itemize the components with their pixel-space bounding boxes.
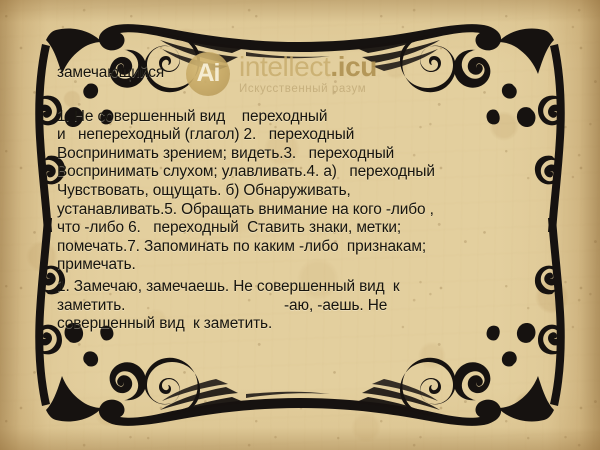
article-headword: замечающийся — [57, 64, 537, 83]
article-sense-list: 1. Не совершенный вид переходный и непер… — [57, 83, 537, 275]
scanned-dictionary-page: Ai intellect.icu Искусственный разум зам… — [0, 0, 600, 450]
dictionary-article: замечающийся 1. Не совершенный вид перех… — [57, 64, 537, 334]
article-conjugation: 1. Замечаю, замечаешь. Не совершенный ви… — [57, 275, 537, 334]
